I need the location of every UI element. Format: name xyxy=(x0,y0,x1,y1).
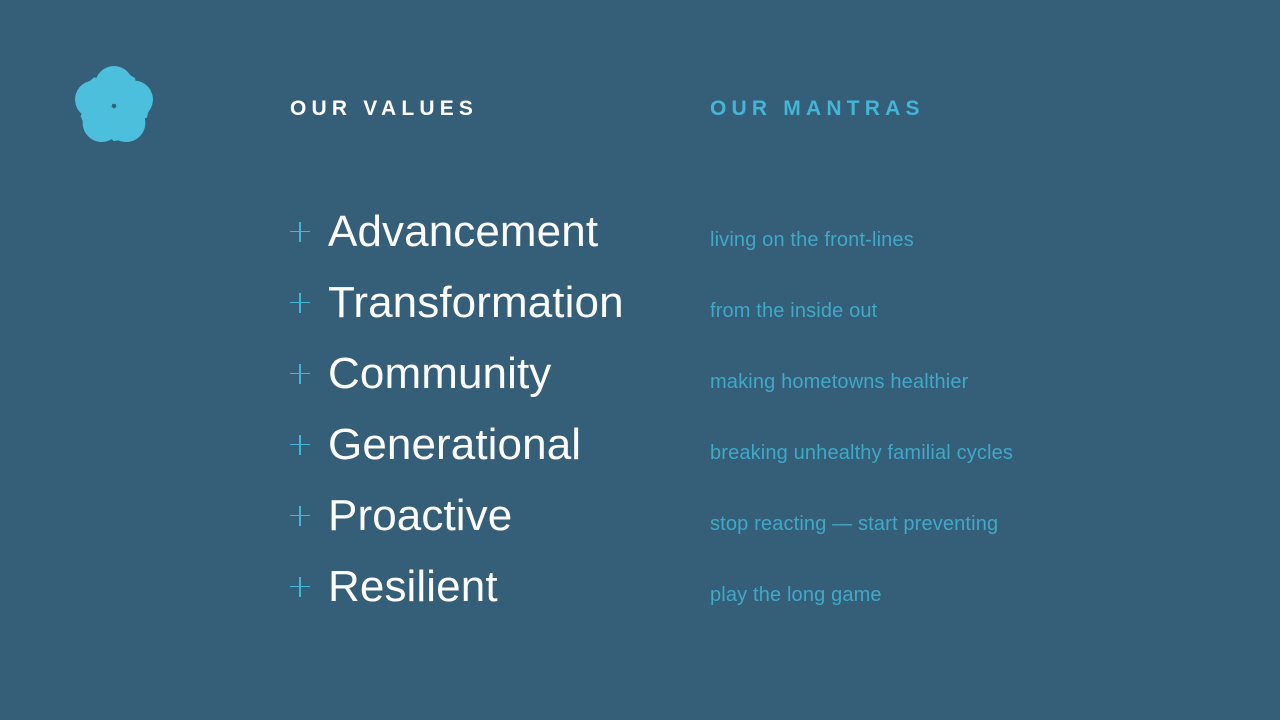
mantra-cell-proactive: stop reacting — start preventing xyxy=(710,480,998,551)
plus-icon xyxy=(290,293,310,313)
column-header-mantras: OUR MANTRAS xyxy=(710,96,925,122)
mantra-cell-advancement: living on the front-lines xyxy=(710,196,914,267)
value-label: Resilient xyxy=(328,562,498,612)
list-item: Generational breaking unhealthy familial… xyxy=(0,409,1280,480)
list-item: Advancement living on the front-lines xyxy=(0,196,1280,267)
value-label: Proactive xyxy=(328,491,512,541)
mantra-cell-resilient: play the long game xyxy=(710,551,882,622)
value-label: Generational xyxy=(328,420,581,470)
values-mantras-slide: OUR VALUES OUR MANTRAS Advancement livin… xyxy=(0,0,1280,720)
value-label: Advancement xyxy=(328,207,598,257)
value-label: Transformation xyxy=(328,278,624,328)
mantra-cell-community: making hometowns healthier xyxy=(710,338,968,409)
list-item: Community making hometowns healthier xyxy=(0,338,1280,409)
plus-icon xyxy=(290,222,310,242)
value-cell-transformation: Transformation xyxy=(290,267,624,338)
mantra-cell-transformation: from the inside out xyxy=(710,267,877,338)
list-item: Proactive stop reacting — start preventi… xyxy=(0,480,1280,551)
mantra-cell-generational: breaking unhealthy familial cycles xyxy=(710,409,1013,480)
value-cell-proactive: Proactive xyxy=(290,480,512,551)
mantra-text: stop reacting — start preventing xyxy=(710,495,998,537)
plus-icon xyxy=(290,435,310,455)
list-item: Resilient play the long game xyxy=(0,551,1280,622)
mantra-text: from the inside out xyxy=(710,282,877,324)
value-cell-generational: Generational xyxy=(290,409,581,480)
value-label: Community xyxy=(328,349,551,399)
value-cell-advancement: Advancement xyxy=(290,196,598,267)
value-cell-community: Community xyxy=(290,338,551,409)
mantra-text: breaking unhealthy familial cycles xyxy=(710,424,1013,466)
mantra-text: making hometowns healthier xyxy=(710,353,968,395)
list-item: Transformation from the inside out xyxy=(0,267,1280,338)
value-cell-resilient: Resilient xyxy=(290,551,498,622)
five-petal-pinwheel-icon xyxy=(66,58,162,154)
column-header-values: OUR VALUES xyxy=(290,96,478,122)
plus-icon xyxy=(290,364,310,384)
plus-icon xyxy=(290,506,310,526)
plus-icon xyxy=(290,577,310,597)
mantra-text: play the long game xyxy=(710,566,882,608)
mantra-text: living on the front-lines xyxy=(710,211,914,253)
values-mantras-list: Advancement living on the front-lines Tr… xyxy=(0,196,1280,622)
company-logo xyxy=(66,58,162,154)
